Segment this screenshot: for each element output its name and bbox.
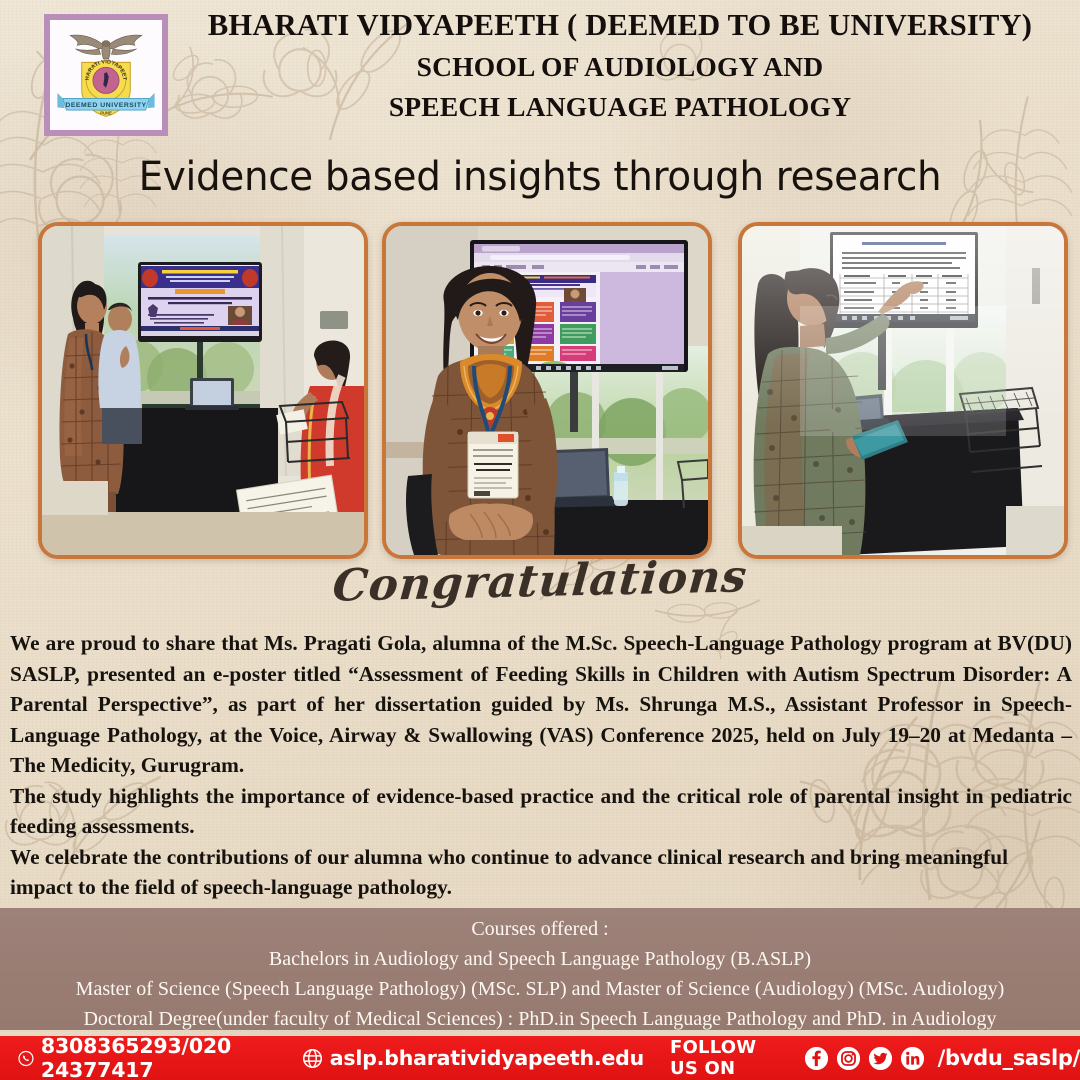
photo-alumna-portrait-with-poster: [382, 222, 712, 559]
university-logo: BHARATI VIDYAPEETH DEEMED UNIVERSITY PUN…: [44, 14, 168, 136]
course-doctoral: Doctoral Degree(under faculty of Medical…: [0, 1008, 1080, 1031]
contact-footer: 8308365293/020 24377417 aslp.bharatividy…: [0, 1036, 1080, 1080]
phone-icon: [18, 1048, 34, 1069]
instagram-icon[interactable]: [837, 1047, 860, 1070]
phone-number: 8308365293/020 24377417: [41, 1034, 276, 1080]
course-bachelors: Bachelors in Audiology and Speech Langua…: [0, 948, 1080, 971]
photo-presenter-pointing-at-results-table: [738, 222, 1068, 559]
course-masters: Master of Science (Speech Language Patho…: [0, 978, 1080, 1001]
university-name: BHARATI VIDYAPEETH ( DEEMED TO BE UNIVER…: [180, 10, 1060, 41]
courses-heading: Courses offered :: [0, 918, 1080, 941]
bharati-vidyapeeth-emblem-icon: BHARATI VIDYAPEETH DEEMED UNIVERSITY PUN…: [52, 21, 160, 129]
facebook-icon[interactable]: [805, 1047, 828, 1070]
poster-tagline: Evidence based insights through research: [16, 154, 1064, 200]
announcement-paragraph-1: We are proud to share that Ms. Pragati G…: [10, 628, 1072, 781]
svg-text:DEEMED UNIVERSITY: DEEMED UNIVERSITY: [65, 102, 146, 109]
twitter-icon[interactable]: [869, 1047, 892, 1070]
poster-header: BHARATI VIDYAPEETH DEEMED UNIVERSITY PUN…: [0, 0, 1080, 148]
linkedin-icon[interactable]: [901, 1047, 924, 1070]
phone-contact[interactable]: 8308365293/020 24377417: [18, 1034, 276, 1080]
svg-text:PUNE: PUNE: [100, 111, 112, 116]
school-name-line2: SPEECH LANGUAGE PATHOLOGY: [180, 93, 1060, 121]
poster-canvas: BHARATI VIDYAPEETH DEEMED UNIVERSITY PUN…: [0, 0, 1080, 1080]
globe-icon: [302, 1048, 323, 1069]
announcement-paragraph-3: We celebrate the contributions of our al…: [10, 842, 1072, 903]
announcement-body: We are proud to share that Ms. Pragati G…: [10, 628, 1072, 903]
school-name-line1: SCHOOL OF AUDIOLOGY AND: [180, 53, 1060, 81]
social-handle[interactable]: /bvdu_saslp/: [938, 1046, 1080, 1070]
website-contact[interactable]: aslp.bharatividyapeeth.edu: [302, 1046, 644, 1070]
website-url: aslp.bharatividyapeeth.edu: [330, 1046, 644, 1070]
photo-gallery: [0, 222, 1080, 562]
photo-presenter-at-eposter-screen: [38, 222, 368, 559]
institution-titles: BHARATI VIDYAPEETH ( DEEMED TO BE UNIVER…: [180, 10, 1060, 121]
social-links: [805, 1047, 924, 1070]
announcement-paragraph-2: The study highlights the importance of e…: [10, 781, 1072, 842]
follow-us-label: FOLLOW US ON: [670, 1037, 791, 1079]
courses-offered-band: Courses offered : Bachelors in Audiology…: [0, 908, 1080, 1030]
